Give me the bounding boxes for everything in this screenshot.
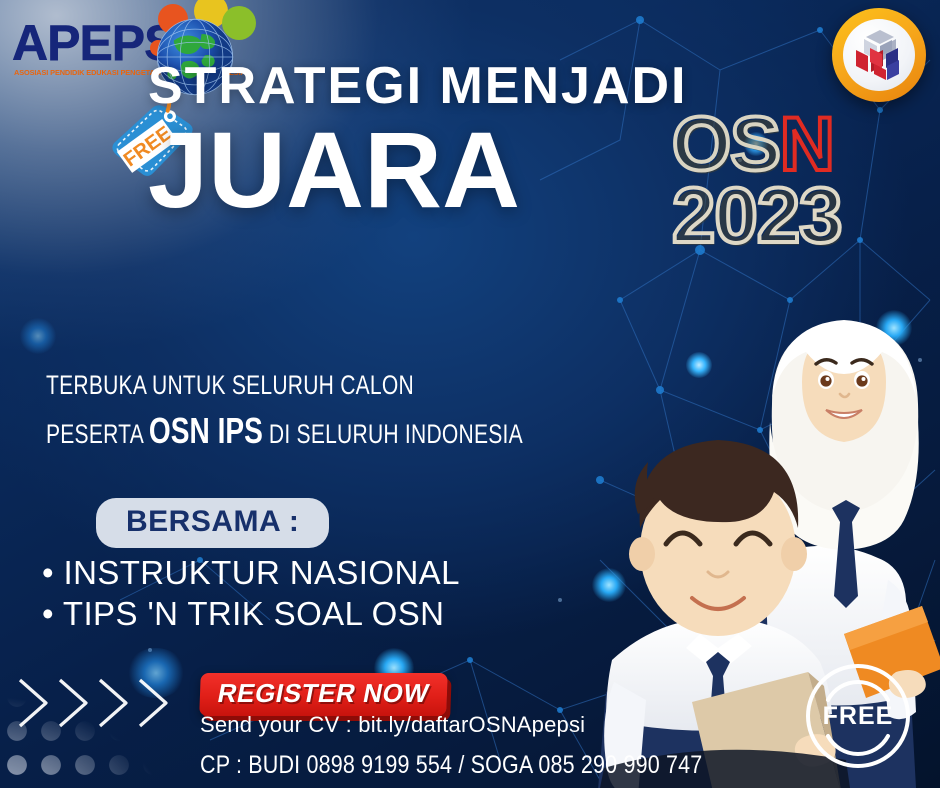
body-copy: TERBUKA UNTUK SELURUH CALON PESERTA OSN … xyxy=(46,362,566,457)
osn-letters: OSN xyxy=(672,112,872,178)
list-item: • TIPS 'N TRIK SOAL OSN xyxy=(42,593,562,634)
rubiks-cube-icon xyxy=(854,28,906,82)
list-item: • INSTRUKTUR NASIONAL xyxy=(42,552,562,593)
body-line-2-emphasis: OSN IPS xyxy=(149,410,263,451)
body-line-2-post: DI SELURUH INDONESIA xyxy=(263,419,523,449)
osn-year: 2023 xyxy=(672,180,872,250)
bersama-label: BERSAMA : xyxy=(126,505,299,538)
osn-year-block: OSN 2023 xyxy=(672,112,872,244)
contact-text: CP : BUDI 0898 9199 554 / SOGA 085 290 9… xyxy=(200,751,702,780)
body-line-2: PESERTA OSN IPS DI SELURUH INDONESIA xyxy=(46,408,452,457)
register-now-button[interactable]: REGISTER NOW xyxy=(199,673,447,716)
bersama-pill: BERSAMA : xyxy=(96,498,329,548)
register-now-label: REGISTER NOW xyxy=(215,678,432,709)
body-line-2-pre: PESERTA xyxy=(46,419,149,449)
bullet-list: • INSTRUKTUR NASIONAL • TIPS 'N TRIK SOA… xyxy=(42,552,562,634)
send-cv-text[interactable]: Send your CV : bit.ly/daftarOSNApepsi xyxy=(200,712,585,738)
poster-canvas: APEPSI ASOSIASI PENDIDIK EDUKASI PENGETA… xyxy=(0,0,940,788)
node-glow xyxy=(20,318,56,354)
free-seal xyxy=(804,662,912,770)
chevron-right-icon xyxy=(14,672,190,734)
body-line-1: TERBUKA UNTUK SELURUH CALON xyxy=(46,362,452,408)
